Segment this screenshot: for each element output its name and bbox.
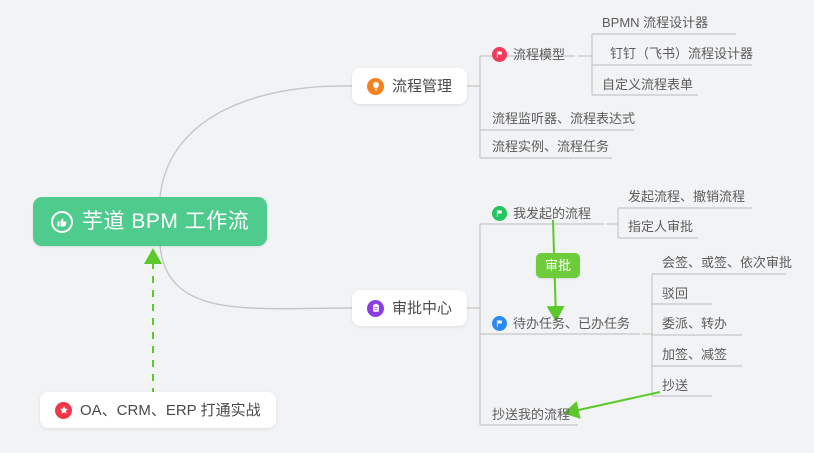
flag-icon	[492, 206, 507, 221]
leaf-process-instance[interactable]: 流程实例、流程任务	[492, 140, 609, 153]
star-icon	[55, 402, 72, 419]
node-label: 审批中心	[392, 301, 452, 316]
mindmap-canvas: 芋道 BPM 工作流 流程管理 流程模型 BPMN 流程设计器 钉钉（飞书）流程…	[0, 0, 814, 453]
node-label: 待办任务、已办任务	[513, 317, 630, 330]
clipboard-icon	[367, 300, 384, 317]
node-label: 我发起的流程	[513, 207, 591, 220]
leaf-cc-to-me[interactable]: 抄送我的流程	[492, 408, 570, 421]
leaf-countersign[interactable]: 会签、或签、依次审批	[662, 256, 792, 269]
node-approval-center[interactable]: 审批中心	[352, 290, 467, 326]
leaf-add-remove-sign[interactable]: 加签、减签	[662, 348, 727, 361]
leaf-reject[interactable]: 驳回	[662, 287, 688, 300]
leaf-dingtalk-designer[interactable]: 钉钉（飞书）流程设计器	[610, 47, 753, 60]
leaf-delegate-transfer[interactable]: 委派、转办	[662, 317, 727, 330]
node-process-management[interactable]: 流程管理	[352, 68, 467, 104]
root-node[interactable]: 芋道 BPM 工作流	[33, 197, 267, 246]
node-bottom-note[interactable]: OA、CRM、ERP 打通实战	[40, 392, 276, 428]
leaf-cc[interactable]: 抄送	[662, 379, 688, 392]
leaf-start-cancel-process[interactable]: 发起流程、撤销流程	[628, 190, 745, 203]
node-my-initiated[interactable]: 我发起的流程	[492, 206, 591, 221]
root-label: 芋道 BPM 工作流	[82, 211, 249, 232]
node-process-model[interactable]: 流程模型	[492, 47, 565, 62]
flag-icon	[492, 316, 507, 331]
leaf-bpmn-designer[interactable]: BPMN 流程设计器	[602, 16, 708, 29]
lightbulb-icon	[367, 78, 384, 95]
leaf-assigned-approval[interactable]: 指定人审批	[628, 220, 693, 233]
thumbs-up-icon	[51, 211, 73, 233]
leaf-custom-form[interactable]: 自定义流程表单	[602, 78, 693, 91]
node-label: OA、CRM、ERP 打通实战	[80, 403, 261, 418]
node-label: 流程模型	[513, 48, 565, 61]
approve-tag: 审批	[536, 253, 580, 278]
node-label: 流程管理	[392, 79, 452, 94]
node-todo-done-tasks[interactable]: 待办任务、已办任务	[492, 316, 630, 331]
flag-icon	[492, 47, 507, 62]
leaf-process-listener[interactable]: 流程监听器、流程表达式	[492, 112, 635, 125]
